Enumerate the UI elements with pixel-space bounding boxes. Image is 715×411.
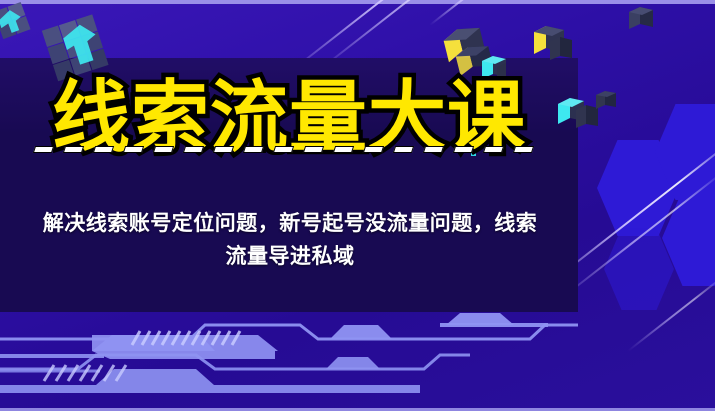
- title-dash: [483, 146, 504, 153]
- title-dash: [363, 146, 384, 153]
- title-dash: [273, 146, 294, 153]
- 3d-cube: [594, 86, 624, 114]
- title-shadow-dashes: [34, 146, 554, 155]
- circuit-decoration: [0, 311, 715, 411]
- title-dash: [453, 146, 474, 153]
- title-dash: [213, 146, 234, 153]
- title-dash: [63, 146, 84, 153]
- title-dash: [393, 146, 414, 153]
- top-accent-strip: [0, 0, 715, 4]
- poster-title: 线索流量大课 线索流量大课: [0, 78, 578, 156]
- title-dash: [333, 146, 354, 153]
- title-dash: [123, 146, 144, 153]
- 3d-cube-cluster: [0, 0, 42, 42]
- title-dash: [423, 146, 444, 153]
- poster-subtitle: 解决线索账号定位问题，新号起号没流量问题，线索流量导进私域: [40, 208, 540, 273]
- 3d-cube: [627, 2, 663, 36]
- title-dash: [183, 146, 204, 153]
- title-dash: [513, 146, 534, 153]
- title-dash: [153, 146, 174, 153]
- 3d-cube: [530, 20, 576, 64]
- title-dash: [33, 146, 54, 153]
- title-dash: [303, 146, 324, 153]
- title-dash: [93, 146, 114, 153]
- title-dash: [243, 146, 264, 153]
- promo-poster: 线索流量大课 线索流量大课 解决线索账号定位问题，新号起号没流量问题，线索流量导…: [0, 0, 715, 411]
